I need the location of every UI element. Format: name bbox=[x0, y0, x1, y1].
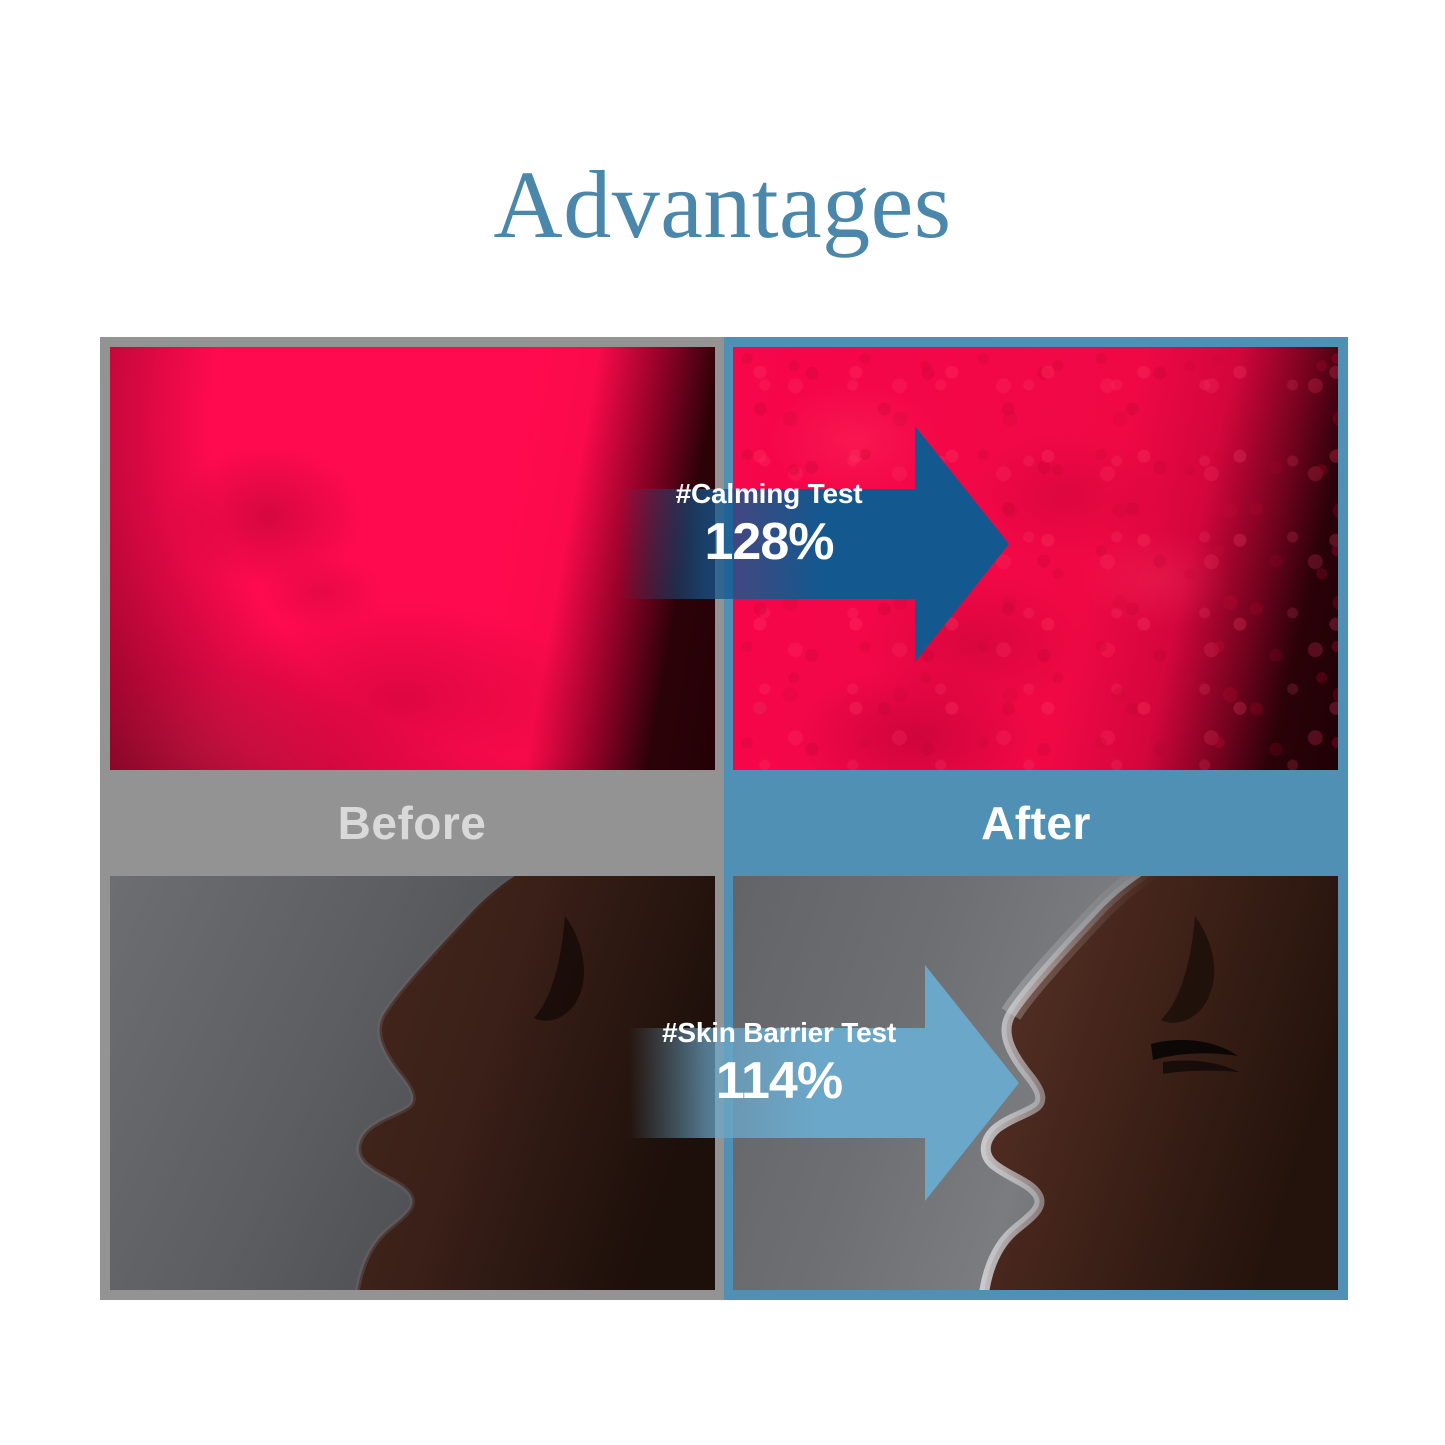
right-arrow-icon bbox=[619, 426, 1009, 662]
before-label: Before bbox=[338, 796, 487, 850]
after-label-band: After bbox=[724, 770, 1348, 876]
before-label-band: Before bbox=[100, 770, 724, 876]
calming-test-arrow: #Calming Test 128% bbox=[619, 426, 1009, 662]
skin-barrier-test-arrow: #Skin Barrier Test 114% bbox=[629, 965, 1019, 1201]
right-arrow-icon bbox=[629, 965, 1019, 1201]
skin-barrier-before-photo bbox=[110, 876, 715, 1290]
before-after-comparison-grid: Before After #Calming Test 128% bbox=[100, 337, 1348, 1300]
page-title: Advantages bbox=[0, 150, 1445, 260]
face-silhouette-before-icon bbox=[110, 876, 715, 1290]
after-label: After bbox=[981, 796, 1091, 850]
